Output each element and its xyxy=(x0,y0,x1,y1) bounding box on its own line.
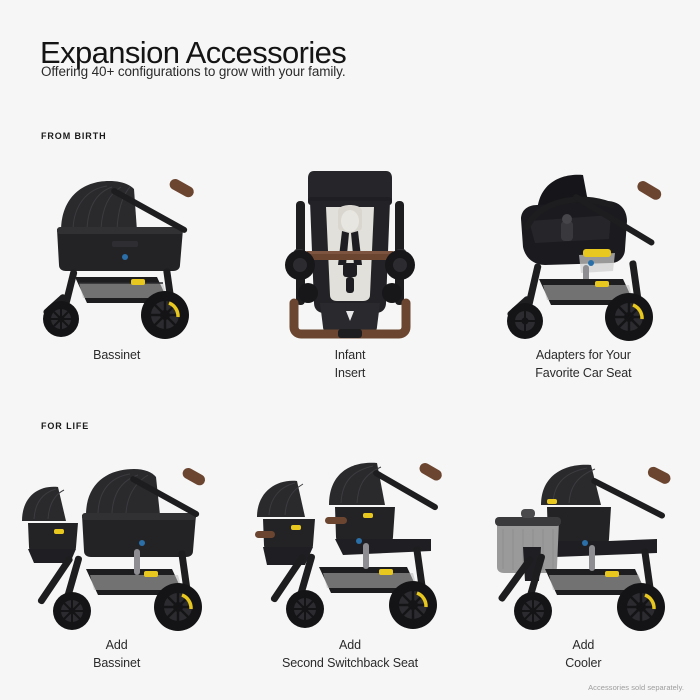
product-caption: Add Bassinet xyxy=(93,637,140,673)
footnote-disclaimer: Accessories sold separately. xyxy=(588,683,684,692)
product-card-bassinet[interactable]: Bassinet xyxy=(0,150,233,383)
product-caption: Add Second Switchback Seat xyxy=(282,637,418,673)
stroller-cooler-icon xyxy=(478,440,688,635)
section-label-from-birth: FROM BIRTH xyxy=(41,131,107,141)
product-caption: Bassinet xyxy=(93,347,140,365)
stroller-car-seat-adapters-icon xyxy=(478,150,688,345)
stroller-bassinet-icon xyxy=(12,150,222,345)
product-grid-from-birth: Bassinet xyxy=(0,150,700,383)
product-card-car-seat-adapters[interactable]: Adapters for Your Favorite Car Seat xyxy=(467,150,700,383)
page-subtitle: Offering 40+ configurations to grow with… xyxy=(41,62,345,82)
product-caption: Add Cooler xyxy=(565,637,601,673)
stroller-double-seat-icon xyxy=(245,440,455,635)
product-grid-for-life: Add Bassinet xyxy=(0,440,700,673)
stroller-double-bassinet-icon xyxy=(12,440,222,635)
product-caption: Adapters for Your Favorite Car Seat xyxy=(535,347,631,383)
section-label-for-life: FOR LIFE xyxy=(41,421,89,431)
product-card-second-switchback-seat[interactable]: Add Second Switchback Seat xyxy=(233,440,466,673)
product-card-add-bassinet[interactable]: Add Bassinet xyxy=(0,440,233,673)
stroller-infant-insert-front-icon xyxy=(245,150,455,345)
expansion-accessories-page: Expansion Accessories Offering 40+ confi… xyxy=(0,0,700,700)
product-caption: Infant Insert xyxy=(335,347,366,383)
product-card-infant-insert[interactable]: Infant Insert xyxy=(233,150,466,383)
product-card-add-cooler[interactable]: Add Cooler xyxy=(467,440,700,673)
